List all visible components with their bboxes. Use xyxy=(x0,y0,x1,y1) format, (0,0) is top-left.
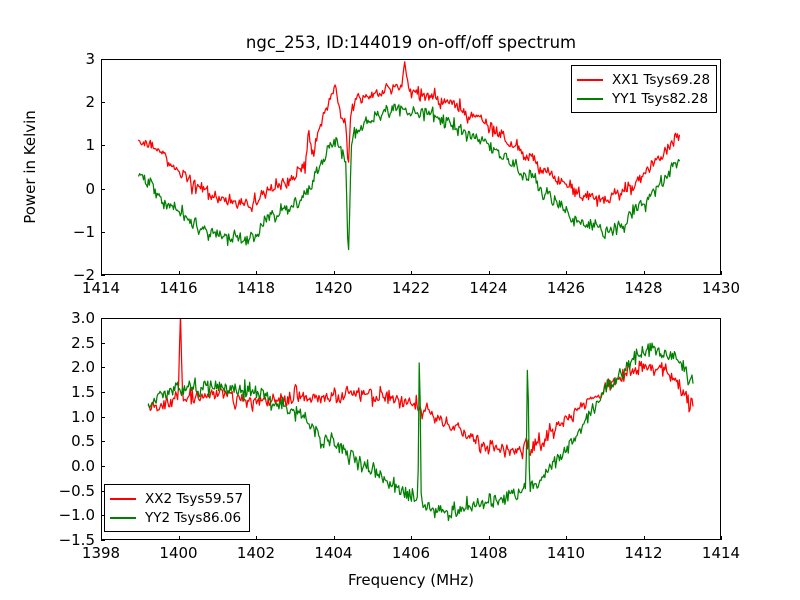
x-tick-label: 1410 xyxy=(547,544,585,562)
y-tick-label: 3.0 xyxy=(49,309,95,327)
x-tick-mark xyxy=(179,536,180,540)
x-tick-label: 1408 xyxy=(469,544,507,562)
legend-item-xx2: XX2 Tsys59.57 xyxy=(110,489,243,508)
x-tick-label: 1430 xyxy=(702,279,740,297)
legend-swatch-yy2 xyxy=(110,517,136,519)
legend-label-yy1: YY1 Tsys82.28 xyxy=(612,91,708,107)
x-tick-label: 1400 xyxy=(159,544,197,562)
x-tick-label: 1424 xyxy=(469,279,507,297)
x-tick-mark xyxy=(411,536,412,540)
x-tick-mark xyxy=(256,271,257,275)
y-tick-mark xyxy=(101,275,105,276)
x-tick-label: 1426 xyxy=(547,279,585,297)
x-tick-label: 1412 xyxy=(624,544,662,562)
x-tick-label: 1418 xyxy=(237,279,275,297)
legend-swatch-xx2 xyxy=(110,498,136,500)
x-tick-mark xyxy=(721,271,722,275)
x-tick-mark xyxy=(411,271,412,275)
x-tick-mark xyxy=(566,536,567,540)
y-tick-mark xyxy=(101,466,105,467)
x-tick-mark xyxy=(179,271,180,275)
y-tick-label: 2 xyxy=(49,93,95,111)
y-tick-mark xyxy=(101,343,105,344)
spectrum-figure: ngc_253, ID:144019 on-off/off spectrum 1… xyxy=(0,0,800,600)
y-tick-mark xyxy=(101,540,105,541)
figure-title: ngc_253, ID:144019 on-off/off spectrum xyxy=(101,33,721,52)
y-tick-label: 1 xyxy=(49,136,95,154)
y-tick-mark xyxy=(101,102,105,103)
y-tick-label: 0.0 xyxy=(49,457,95,475)
y-tick-mark xyxy=(101,59,105,60)
x-tick-mark xyxy=(566,271,567,275)
y-tick-mark xyxy=(101,367,105,368)
y-tick-mark xyxy=(101,392,105,393)
y-tick-label: 1.5 xyxy=(49,383,95,401)
lower-legend: XX2 Tsys59.57 YY2 Tsys86.06 xyxy=(104,484,250,532)
legend-swatch-yy1 xyxy=(577,98,603,100)
x-tick-mark xyxy=(334,271,335,275)
y-tick-mark xyxy=(101,417,105,418)
legend-label-xx2: XX2 Tsys59.57 xyxy=(145,491,243,507)
y-tick-mark xyxy=(101,318,105,319)
x-tick-label: 1414 xyxy=(702,544,740,562)
x-tick-mark xyxy=(721,536,722,540)
y-tick-label: −1.0 xyxy=(49,506,95,524)
y-tick-label: 3 xyxy=(49,50,95,68)
y-tick-label: 2.0 xyxy=(49,358,95,376)
y-tick-label: 0 xyxy=(49,180,95,198)
x-tick-label: 1420 xyxy=(314,279,352,297)
x-tick-mark xyxy=(644,536,645,540)
legend-swatch-xx1 xyxy=(577,79,603,81)
legend-label-yy2: YY2 Tsys86.06 xyxy=(145,510,241,526)
y-tick-mark xyxy=(101,189,105,190)
x-tick-mark xyxy=(489,271,490,275)
y-tick-label: −2 xyxy=(49,266,95,284)
y-tick-label: −0.5 xyxy=(49,482,95,500)
x-tick-mark xyxy=(256,536,257,540)
y-tick-mark xyxy=(101,441,105,442)
legend-item-yy1: YY1 Tsys82.28 xyxy=(577,89,710,108)
y-tick-label: 0.5 xyxy=(49,432,95,450)
x-tick-label: 1422 xyxy=(392,279,430,297)
y-tick-label: 1.0 xyxy=(49,408,95,426)
y-tick-label: 2.5 xyxy=(49,334,95,352)
upper-legend: XX1 Tsys69.28 YY1 Tsys82.28 xyxy=(571,65,717,113)
x-tick-mark xyxy=(334,536,335,540)
y-tick-mark xyxy=(101,232,105,233)
x-tick-mark xyxy=(644,271,645,275)
legend-item-xx1: XX1 Tsys69.28 xyxy=(577,70,710,89)
x-tick-label: 1416 xyxy=(159,279,197,297)
x-tick-mark xyxy=(489,536,490,540)
y-tick-label: −1 xyxy=(49,223,95,241)
x-tick-label: 1428 xyxy=(624,279,662,297)
y-tick-label: −1.5 xyxy=(49,531,95,549)
spectrum-trace xyxy=(139,104,680,249)
legend-item-yy2: YY2 Tsys86.06 xyxy=(110,508,243,527)
upper-y-axis-label: Power in Kelvin xyxy=(21,110,39,224)
y-tick-mark xyxy=(101,145,105,146)
x-tick-label: 1402 xyxy=(237,544,275,562)
x-tick-label: 1406 xyxy=(392,544,430,562)
x-tick-label: 1404 xyxy=(314,544,352,562)
lower-x-axis-label: Frequency (MHz) xyxy=(348,571,474,589)
legend-label-xx1: XX1 Tsys69.28 xyxy=(612,72,710,88)
